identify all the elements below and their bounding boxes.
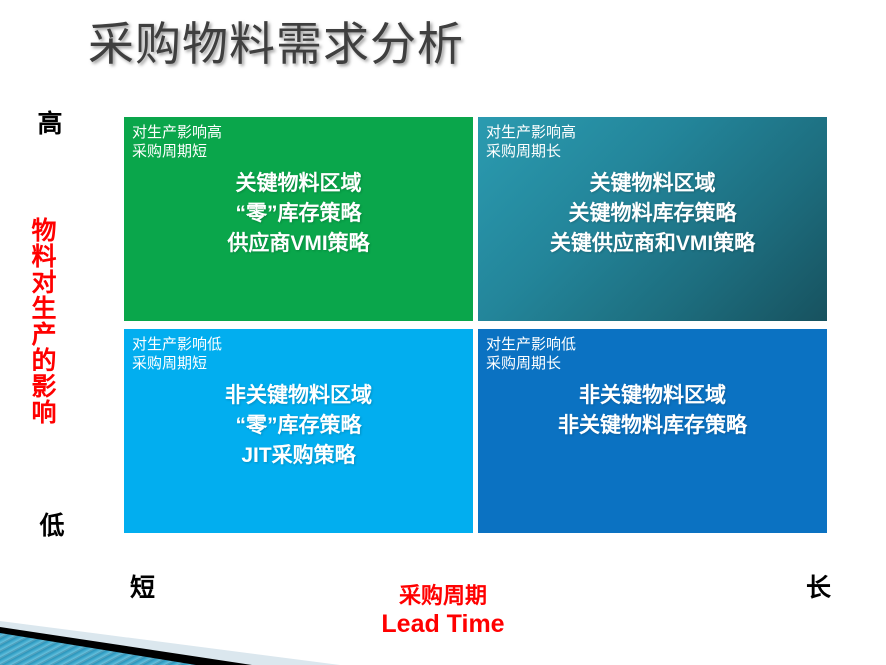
center-line: 关键物料区域 [124, 169, 473, 199]
corner-line: 对生产影响低 [486, 335, 576, 354]
center-line: 非关键物料区域 [478, 381, 827, 411]
y-axis-title-char: 产 [22, 322, 66, 348]
center-line: 关键物料区域 [478, 169, 827, 199]
quadrant-top-right: 对生产影响高 采购周期长 关键物料区域 关键物料库存策略 关键供应商和VMI策略 [478, 117, 827, 321]
center-line: 非关键物料库存策略 [478, 411, 827, 441]
quadrant-center-text: 非关键物料区域 “零”库存策略 JIT采购策略 [124, 381, 473, 471]
quadrant-matrix: 对生产影响高 采购周期短 关键物料区域 “零”库存策略 供应商VMI策略 对生产… [124, 117, 827, 533]
y-axis-title-char: 对 [22, 270, 66, 296]
corner-line: 对生产影响高 [132, 123, 222, 142]
center-line: 关键供应商和VMI策略 [478, 229, 827, 259]
quadrant-corner-label: 对生产影响低 采购周期短 [132, 335, 222, 373]
y-axis-title-char: 响 [22, 400, 66, 426]
quadrant-center-text: 关键物料区域 “零”库存策略 供应商VMI策略 [124, 169, 473, 259]
quadrant-corner-label: 对生产影响高 采购周期长 [486, 123, 576, 161]
quadrant-center-text: 非关键物料区域 非关键物料库存策略 [478, 381, 827, 441]
center-line: JIT采购策略 [124, 441, 473, 471]
center-line: 供应商VMI策略 [124, 229, 473, 259]
y-axis-low-label: 低 [22, 506, 82, 542]
quadrant-corner-label: 对生产影响高 采购周期短 [132, 123, 222, 161]
y-axis-high-label: 高 [20, 104, 80, 140]
corner-line: 采购周期长 [486, 142, 576, 161]
quadrant-center-text: 关键物料区域 关键物料库存策略 关键供应商和VMI策略 [478, 169, 827, 259]
center-line: 关键物料库存策略 [478, 199, 827, 229]
page-title: 采购物料需求分析 [88, 8, 464, 74]
x-axis-title: 采购周期 Lead Time [0, 582, 886, 638]
corner-line: 采购周期短 [132, 354, 222, 373]
y-axis-title-char: 的 [22, 348, 66, 374]
y-axis-title-char: 料 [22, 244, 66, 270]
y-axis-title-char: 物 [22, 218, 66, 244]
quadrant-bottom-left: 对生产影响低 采购周期短 非关键物料区域 “零”库存策略 JIT采购策略 [124, 329, 473, 533]
center-line: “零”库存策略 [124, 199, 473, 229]
y-axis-title: 物 料 对 生 产 的 影 响 [22, 218, 66, 426]
corner-line: 对生产影响低 [132, 335, 222, 354]
y-axis-title-char: 生 [22, 296, 66, 322]
y-axis-title-char: 影 [22, 374, 66, 400]
center-line: 非关键物料区域 [124, 381, 473, 411]
corner-line: 采购周期长 [486, 354, 576, 373]
quadrant-corner-label: 对生产影响低 采购周期长 [486, 335, 576, 373]
center-line: “零”库存策略 [124, 411, 473, 441]
quadrant-bottom-right: 对生产影响低 采购周期长 非关键物料区域 非关键物料库存策略 [478, 329, 827, 533]
x-axis-title-cn: 采购周期 [0, 582, 886, 610]
corner-line: 采购周期短 [132, 142, 222, 161]
x-axis-title-en: Lead Time [0, 610, 886, 638]
corner-line: 对生产影响高 [486, 123, 576, 142]
quadrant-top-left: 对生产影响高 采购周期短 关键物料区域 “零”库存策略 供应商VMI策略 [124, 117, 473, 321]
